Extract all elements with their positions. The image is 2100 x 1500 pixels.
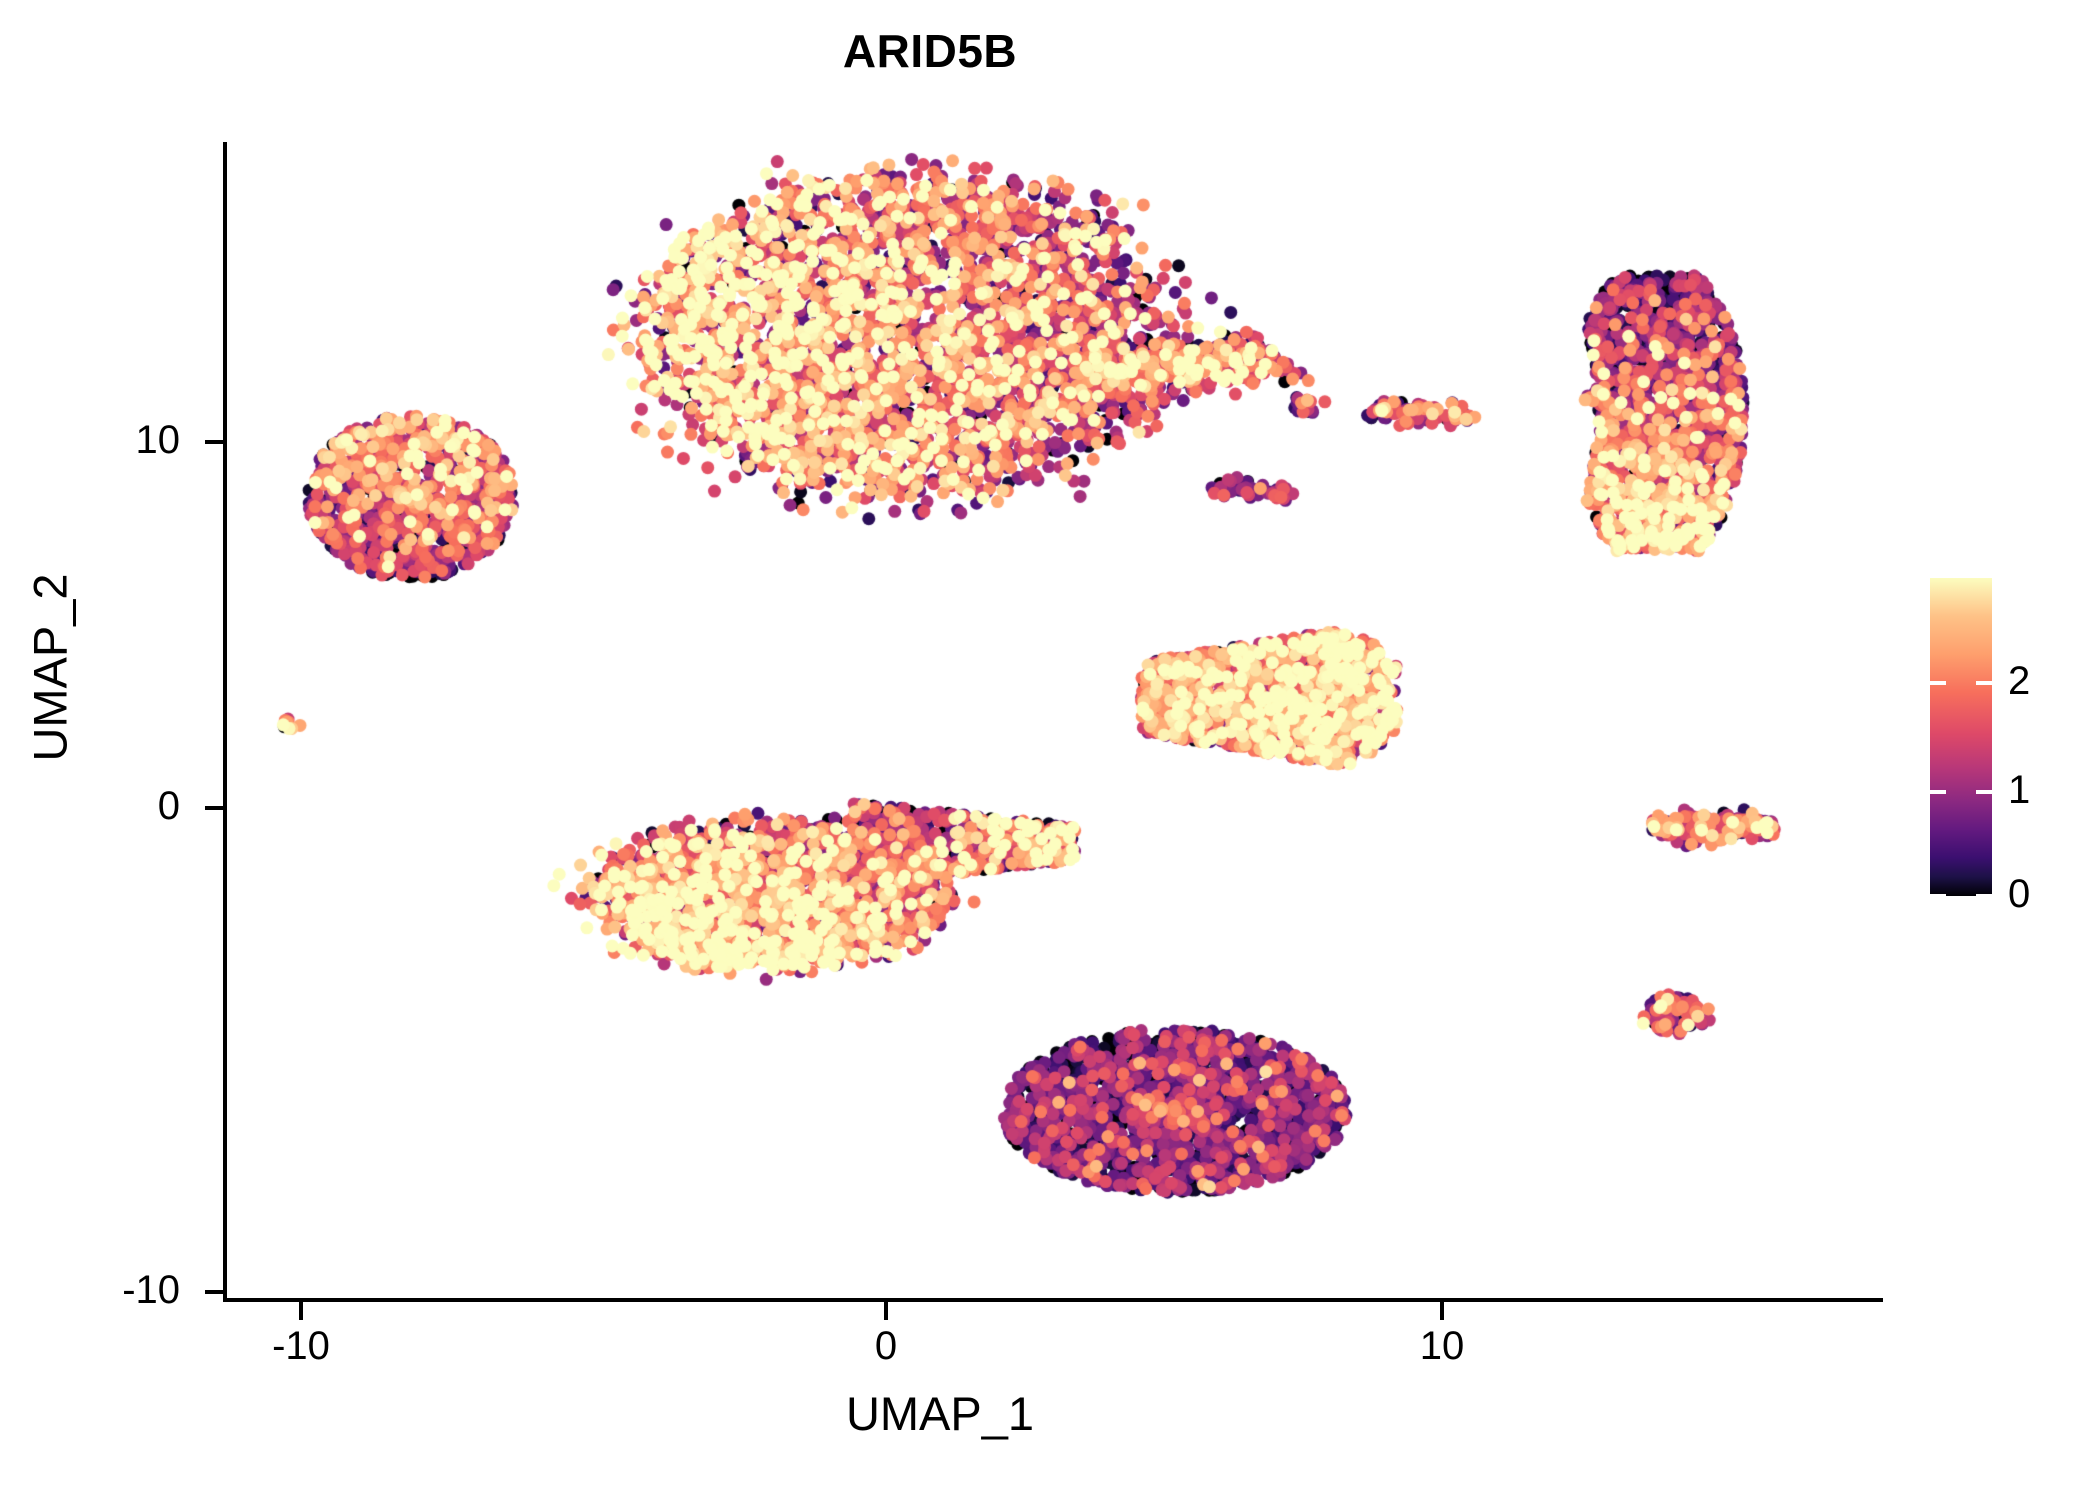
x-tick-label-neg10: -10 <box>201 1326 401 1366</box>
y-axis-title: UMAP_2 <box>23 458 78 878</box>
x-axis-line <box>223 1298 1883 1302</box>
legend-tick-0-left <box>1930 894 1946 898</box>
legend-label-1: 1 <box>2008 770 2088 810</box>
legend-label-2: 2 <box>2008 661 2088 701</box>
legend-tick-1-left <box>1930 790 1946 794</box>
legend-colorbar <box>1930 578 1992 896</box>
y-tick-label-neg10: -10 <box>20 1270 180 1310</box>
x-tick-label-10: 10 <box>1342 1326 1542 1366</box>
color-legend: 2 1 0 <box>1930 578 2080 898</box>
y-tick-mark-10 <box>205 440 223 444</box>
y-tick-label-10: 10 <box>20 420 180 460</box>
y-tick-mark-neg10 <box>205 1290 223 1294</box>
legend-label-0: 0 <box>2008 874 2088 914</box>
page-title: ARID5B <box>0 24 1860 78</box>
legend-tick-0-right <box>1976 894 1992 898</box>
x-tick-mark-neg10 <box>299 1302 303 1320</box>
umap-feature-plot: ARID5B 10 0 -10 -10 0 10 UMAP_1 UMAP_2 2… <box>0 0 2100 1500</box>
y-axis-line <box>223 142 227 1302</box>
x-tick-mark-0 <box>884 1302 888 1320</box>
legend-tick-2-right <box>1976 681 1992 685</box>
scatter-canvas <box>225 142 1880 1300</box>
plot-panel <box>225 142 1880 1300</box>
x-tick-label-0: 0 <box>786 1326 986 1366</box>
y-tick-mark-0 <box>205 806 223 810</box>
legend-tick-2-left <box>1930 681 1946 685</box>
x-axis-title: UMAP_1 <box>0 1386 1880 1441</box>
legend-tick-1-right <box>1976 790 1992 794</box>
x-tick-mark-10 <box>1440 1302 1444 1320</box>
